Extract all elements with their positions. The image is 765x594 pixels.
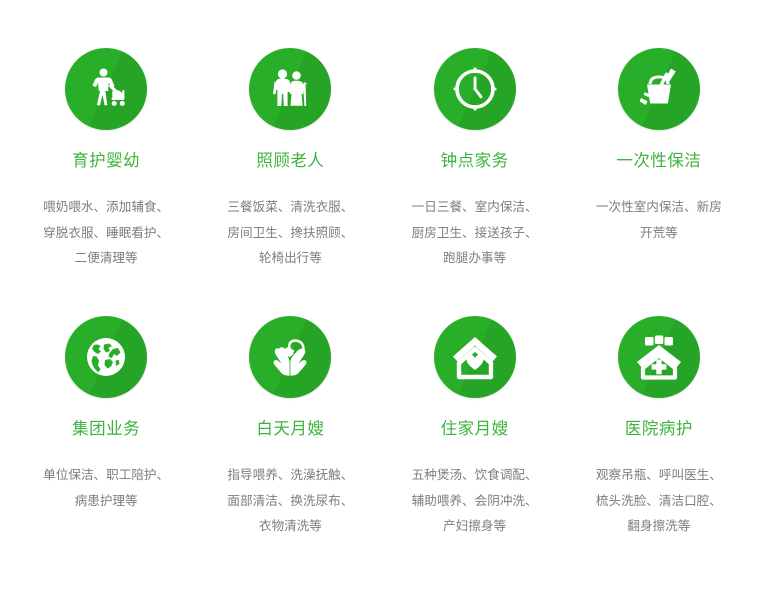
service-description: 三餐饭菜、清洗衣服、 房间卫生、搀扶照顾、 轮椅出行等: [227, 195, 353, 272]
service-description: 观察吊瓶、呼叫医生、 梳头洗脸、清洁口腔、 翻身擦洗等: [596, 463, 722, 540]
service-title: 住家月嫂: [441, 420, 509, 440]
service-card-one-time-cleaning[interactable]: 一次性保洁 一次性室内保洁、新房 开荒等: [567, 48, 751, 316]
service-description: 单位保洁、职工陪护、 病患护理等: [43, 463, 169, 515]
icon-circle[interactable]: [249, 316, 331, 398]
service-title: 育护婴幼: [72, 152, 140, 172]
service-card-hourly-housework[interactable]: 钟点家务 一日三餐、室内保洁、 厨房卫生、接送孩子、 跑腿办事等: [383, 48, 567, 316]
service-description: 五种煲汤、饮食调配、 辅助喂养、会阴冲洗、 产妇擦身等: [412, 463, 538, 540]
services-grid: 育护婴幼 喂奶喂水、添加辅食、 穿脱衣服、睡眠看护、 二便清理等 照顾老人: [0, 0, 765, 594]
service-title: 钟点家务: [441, 152, 509, 172]
icon-circle[interactable]: [65, 48, 147, 130]
home-heart-icon: [450, 332, 500, 382]
service-title: 医院病护: [625, 420, 693, 440]
cleaning-bucket-icon: [634, 64, 684, 114]
icon-circle[interactable]: [618, 316, 700, 398]
service-title: 照顾老人: [256, 152, 324, 172]
icon-circle[interactable]: [65, 316, 147, 398]
clock-icon: [450, 64, 500, 114]
service-title: 一次性保洁: [616, 152, 701, 172]
service-title: 白天月嫂: [256, 420, 324, 440]
service-card-hospital-nursing[interactable]: 医院病护 观察吊瓶、呼叫医生、 梳头洗脸、清洁口腔、 翻身擦洗等: [567, 316, 751, 584]
service-description: 喂奶喂水、添加辅食、 穿脱衣服、睡眠看护、 二便清理等: [43, 195, 169, 272]
service-card-group-business[interactable]: 集团业务 单位保洁、职工陪护、 病患护理等: [14, 316, 198, 584]
service-card-infant-care[interactable]: 育护婴幼 喂奶喂水、添加辅食、 穿脱衣服、睡眠看护、 二便清理等: [14, 48, 198, 316]
service-description: 一次性室内保洁、新房 开荒等: [596, 195, 722, 247]
mother-with-stroller-icon: [81, 64, 131, 114]
service-title: 集团业务: [72, 420, 140, 440]
hospital-care-icon: [634, 332, 684, 382]
service-card-live-in-maternity-matron[interactable]: 住家月嫂 五种煲汤、饮食调配、 辅助喂养、会阴冲洗、 产妇擦身等: [383, 316, 567, 584]
hands-holding-baby-icon: [265, 332, 315, 382]
service-card-daytime-maternity-matron[interactable]: 白天月嫂 指导喂养、洗澡抚触、 面部清洁、换洗尿布、 衣物清洗等: [198, 316, 382, 584]
icon-circle[interactable]: [249, 48, 331, 130]
service-card-elderly-care[interactable]: 照顾老人 三餐饭菜、清洗衣服、 房间卫生、搀扶照顾、 轮椅出行等: [198, 48, 382, 316]
globe-icon: [81, 332, 131, 382]
service-description: 指导喂养、洗澡抚触、 面部清洁、换洗尿布、 衣物清洗等: [227, 463, 353, 540]
service-description: 一日三餐、室内保洁、 厨房卫生、接送孩子、 跑腿办事等: [412, 195, 538, 272]
elderly-couple-icon: [265, 64, 315, 114]
icon-circle[interactable]: [434, 48, 516, 130]
icon-circle[interactable]: [434, 316, 516, 398]
icon-circle[interactable]: [618, 48, 700, 130]
